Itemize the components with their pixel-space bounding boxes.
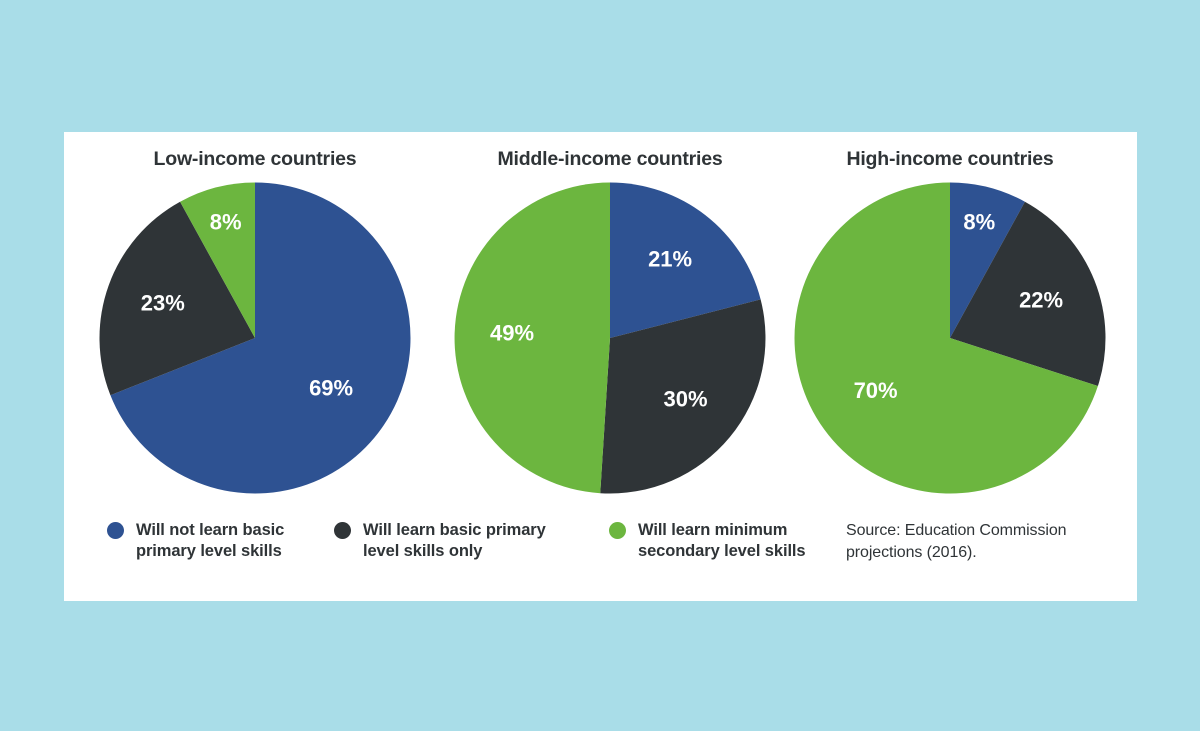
- charts-row: Low-income countries 69%23%8% Middle-inc…: [64, 132, 1137, 502]
- pie-chart-middle-income: Middle-income countries 21%30%49%: [440, 132, 780, 502]
- pie-slice-label: 30%: [663, 387, 707, 412]
- legend-label-line2: primary level skills: [136, 541, 284, 562]
- legend-label-line2: secondary level skills: [638, 541, 806, 562]
- pie-svg-middle-income: 21%30%49%: [454, 182, 766, 494]
- pie-slice-label: 49%: [490, 321, 534, 346]
- pie-slice-label: 22%: [1019, 288, 1063, 313]
- legend-label-will-learn-minimum-secondary: Will learn minimum secondary level skill…: [638, 520, 806, 563]
- legend-label-line1: Will learn minimum: [638, 520, 806, 541]
- figure-card: Low-income countries 69%23%8% Middle-inc…: [64, 132, 1137, 601]
- legend-label-line2: level skills only: [363, 541, 546, 562]
- legend-item-will-learn-minimum-secondary: Will learn minimum secondary level skill…: [609, 520, 806, 563]
- pie-canvas-high-income: 8%22%70%: [794, 182, 1106, 494]
- pie-slice-label: 8%: [963, 210, 995, 235]
- chart-title-middle-income: Middle-income countries: [440, 132, 780, 170]
- pie-slice-label: 23%: [141, 291, 185, 316]
- legend-swatch-icon-green: [609, 522, 626, 539]
- pie-canvas-middle-income: 21%30%49%: [454, 182, 766, 494]
- chart-title-high-income: High-income countries: [780, 132, 1120, 170]
- source-note: Source: Education Commission projections…: [846, 520, 1096, 563]
- pie-chart-high-income: High-income countries 8%22%70%: [780, 132, 1120, 502]
- legend-swatch-icon-blue: [107, 522, 124, 539]
- pie-svg-low-income: 69%23%8%: [99, 182, 411, 494]
- legend-label-line1: Will learn basic primary: [363, 520, 546, 541]
- legend-label-will-learn-basic-primary-only: Will learn basic primary level skills on…: [363, 520, 546, 563]
- legend-swatch-icon-charcoal: [334, 522, 351, 539]
- source-note-line2: projections (2016).: [846, 542, 1096, 564]
- legend-label-will-not-learn-basic-primary: Will not learn basic primary level skill…: [136, 520, 284, 563]
- pie-slice-label: 70%: [854, 378, 898, 403]
- pie-chart-low-income: Low-income countries 69%23%8%: [85, 132, 425, 502]
- legend-item-will-learn-basic-primary-only: Will learn basic primary level skills on…: [334, 520, 546, 563]
- legend: Will not learn basic primary level skill…: [64, 510, 1137, 601]
- source-note-line1: Source: Education Commission: [846, 520, 1096, 542]
- pie-slice-label: 69%: [309, 376, 353, 401]
- pie-slice-label: 8%: [210, 210, 242, 235]
- pie-slice-label: 21%: [648, 247, 692, 272]
- legend-label-line1: Will not learn basic: [136, 520, 284, 541]
- pie-canvas-low-income: 69%23%8%: [99, 182, 411, 494]
- pie-svg-high-income: 8%22%70%: [794, 182, 1106, 494]
- legend-item-will-not-learn-basic-primary: Will not learn basic primary level skill…: [107, 520, 284, 563]
- chart-title-low-income: Low-income countries: [85, 132, 425, 170]
